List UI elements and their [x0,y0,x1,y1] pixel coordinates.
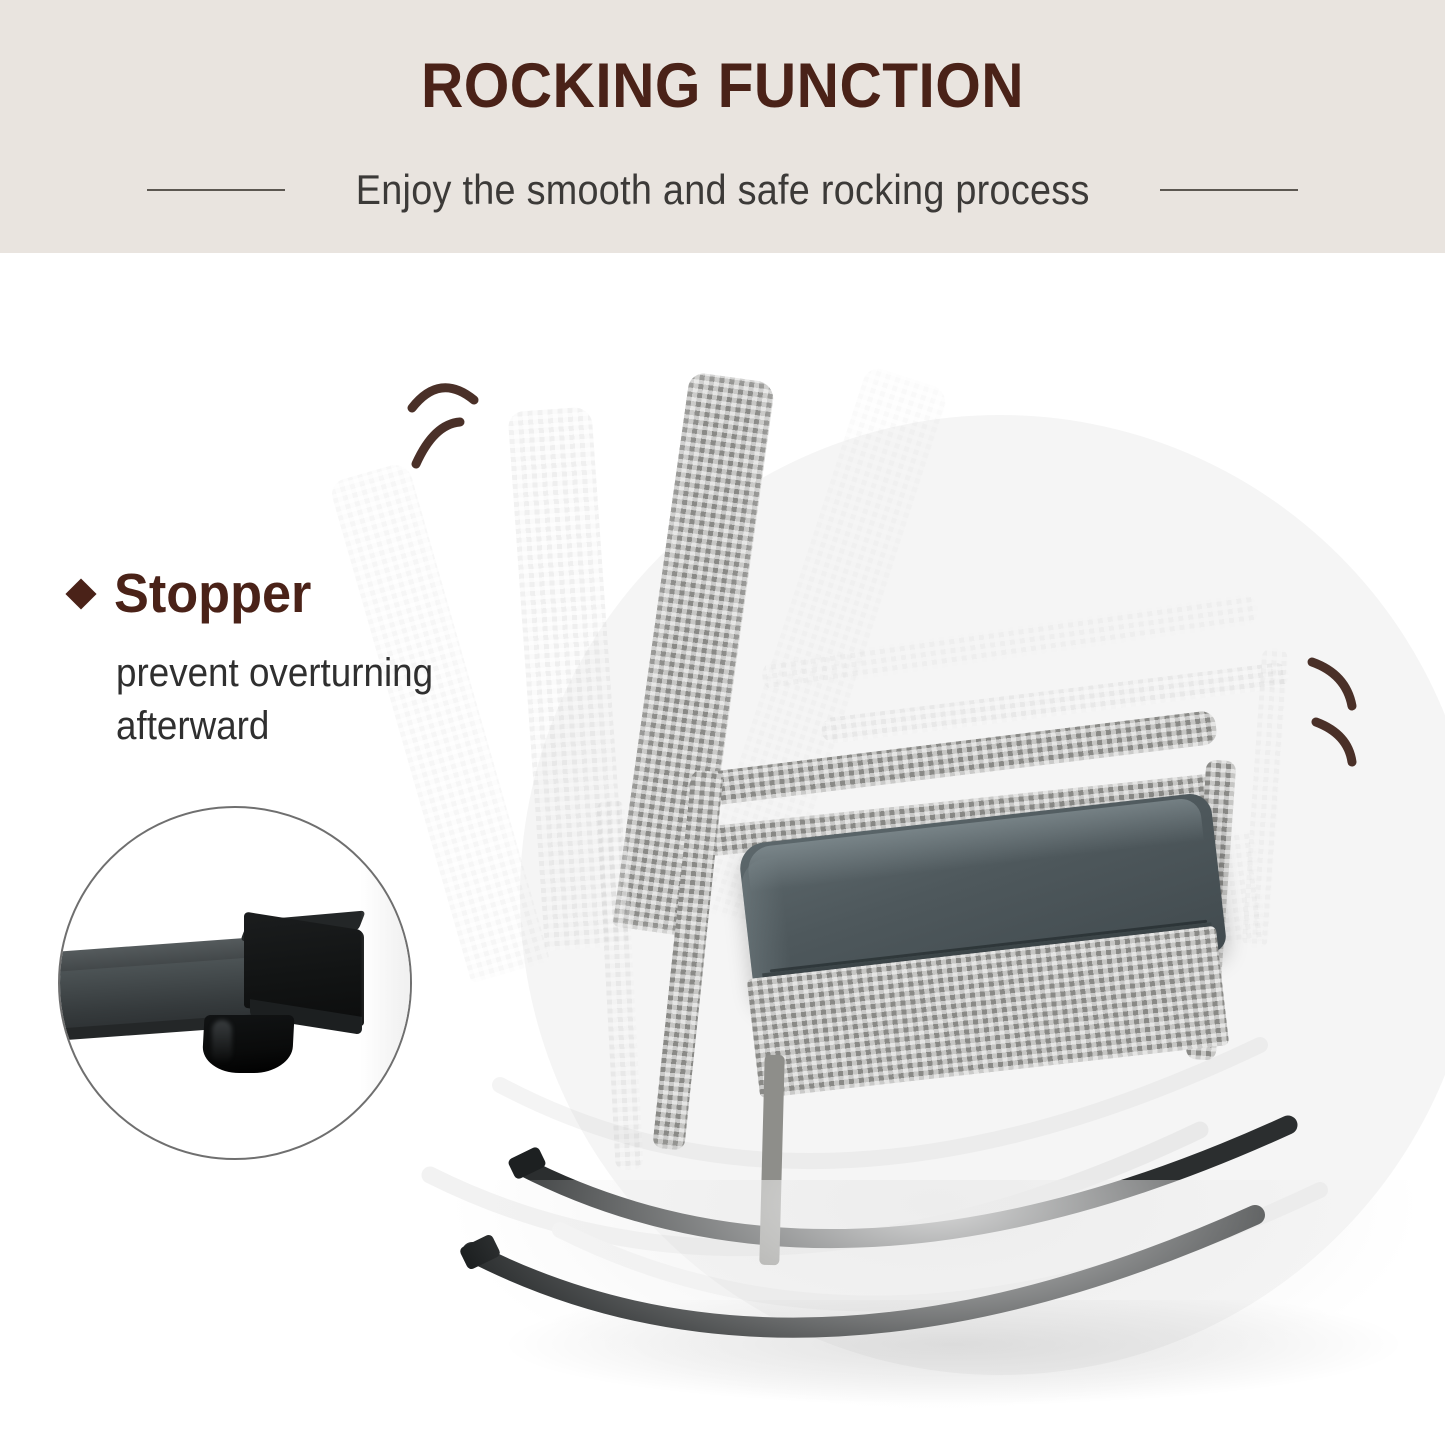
infographic-canvas: ROCKING FUNCTION Enjoy the smooth and sa… [0,0,1445,1445]
arc-left-outer-icon [412,388,474,408]
motion-arc-right-group [1298,650,1408,780]
callout-description-line2: afterward [116,700,506,753]
stopper-callout: Stopper prevent overturning afterward [70,566,540,753]
stopper-detail-inset [58,806,412,1160]
callout-title: Stopper [114,566,311,621]
callout-heading-row: Stopper [70,566,540,621]
motion-arc-left-group [398,358,518,488]
diamond-bullet-icon [65,578,96,609]
bottom-fade [430,1180,1440,1420]
stopper-foot-highlight [212,1020,232,1064]
inset-edge-fade [360,808,412,1158]
stopper-detail-image [60,808,410,1158]
arc-right-inner-icon [1316,722,1352,762]
callout-description-line1: prevent overturning [116,647,506,700]
arc-right-outer-icon [1312,662,1352,706]
arc-left-inner-icon [416,422,460,464]
callout-description: prevent overturning afterward [116,647,506,753]
